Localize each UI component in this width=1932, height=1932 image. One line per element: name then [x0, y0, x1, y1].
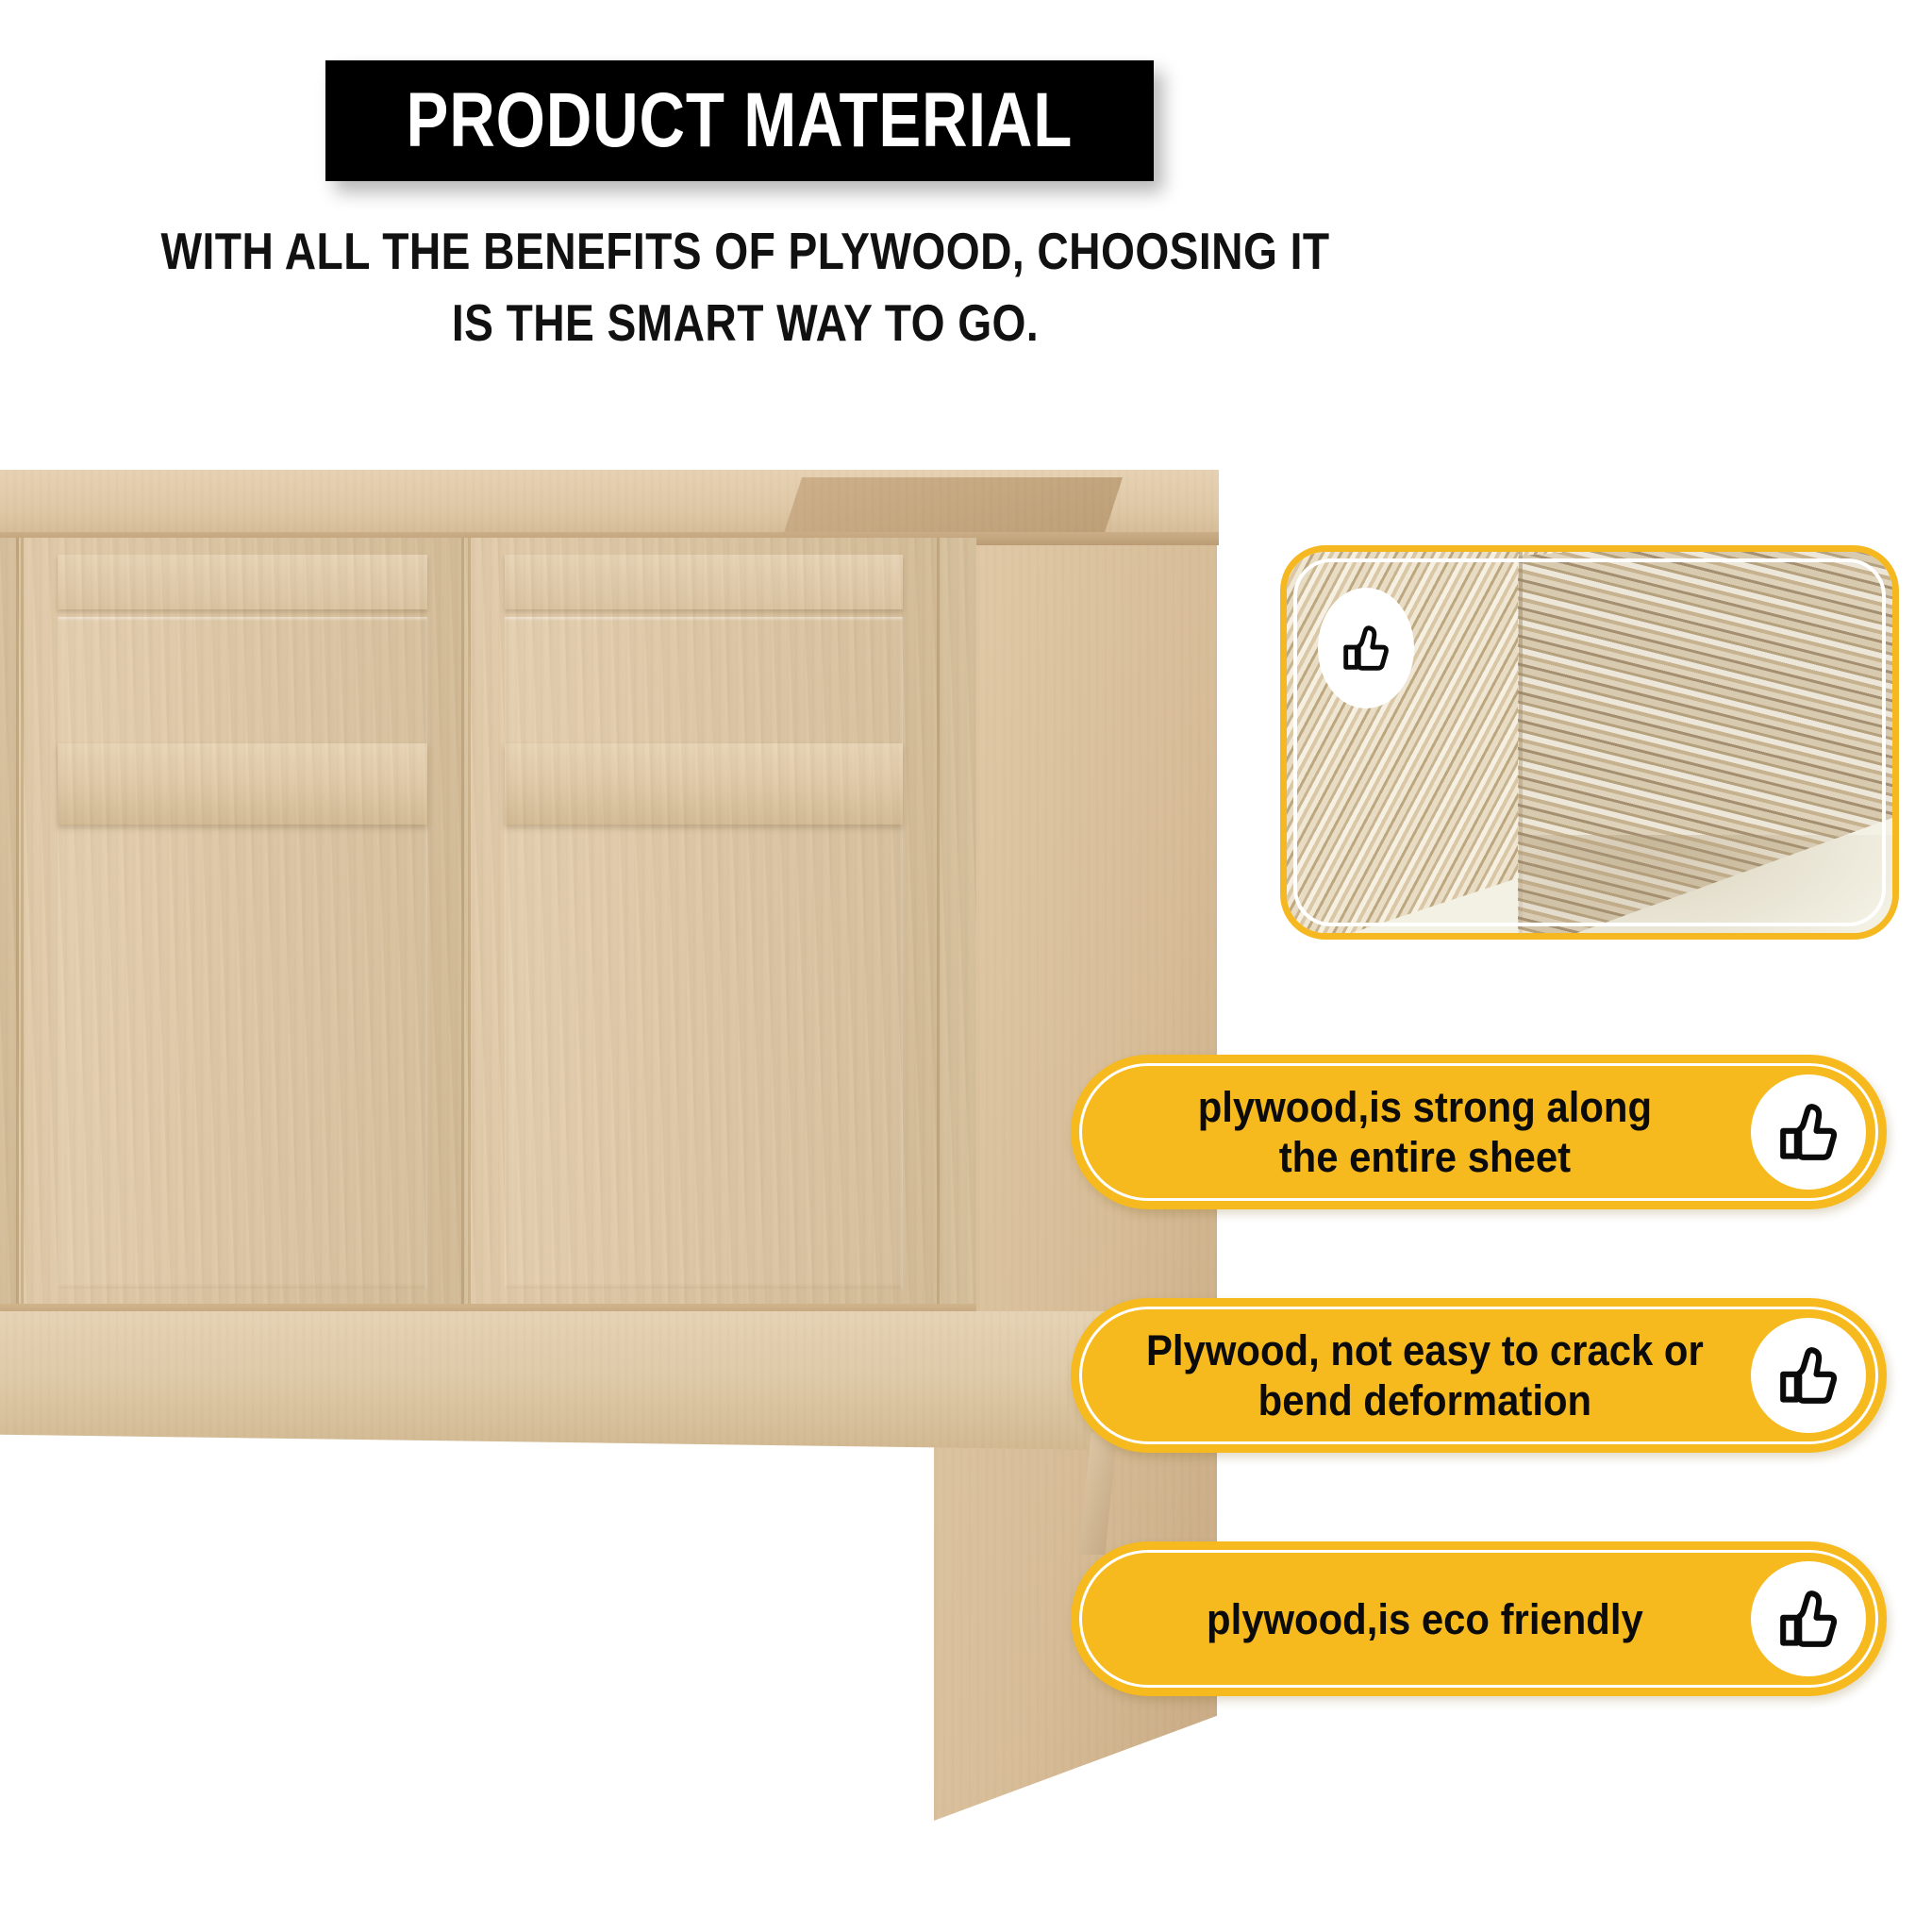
thumbs-up-icon	[1772, 1582, 1845, 1656]
benefit-badge-label: plywood,is strong along the entire sheet	[1094, 1082, 1727, 1182]
cabinet-door-front	[0, 538, 976, 1311]
door-top-stile	[505, 555, 903, 609]
door-top-stile	[58, 555, 427, 609]
thumbs-up-icon	[1772, 1095, 1845, 1169]
cabinet-door-left-partial	[0, 538, 19, 1311]
benefits-list: plywood,is strong along the entire sheet…	[1071, 1055, 1920, 1785]
page-title-banner: PRODUCT MATERIAL	[325, 60, 1154, 181]
benefit-badge-label: plywood,is eco friendly	[1094, 1594, 1727, 1644]
benefit-line-2: the entire sheet	[1133, 1132, 1716, 1182]
door-center-panel	[58, 617, 427, 1289]
benefit-line-1: Plywood, not easy to crack or	[1133, 1325, 1716, 1375]
door-center-panel	[505, 617, 903, 1289]
thumbs-up-badge	[1751, 1318, 1866, 1433]
benefit-line-1: plywood,is eco friendly	[1133, 1594, 1716, 1644]
benefit-badge-crack-resistant[interactable]: Plywood, not easy to crack or bend defor…	[1071, 1298, 1887, 1453]
door-mid-rail	[505, 743, 903, 824]
thumbs-up-badge	[1751, 1561, 1866, 1676]
benefit-line-1: plywood,is strong along	[1133, 1082, 1716, 1132]
thumbs-up-icon	[1337, 619, 1395, 677]
benefit-line-2: bend deformation	[1133, 1375, 1716, 1425]
plywood-drop-shadow	[1523, 835, 1899, 940]
door-mid-rail	[58, 743, 427, 824]
product-photo-cabinet	[0, 470, 1219, 1441]
wood-grain-texture	[0, 1311, 1179, 1451]
cabinet-doors-group	[0, 538, 976, 1311]
page-title: PRODUCT MATERIAL	[407, 82, 1074, 159]
subtitle-line-1: WITH ALL THE BENEFITS OF PLYWOOD, CHOOSI…	[119, 215, 1371, 287]
thumbs-up-badge-panel	[1318, 588, 1414, 708]
benefit-badge-eco-friendly[interactable]: plywood,is eco friendly	[1071, 1541, 1887, 1696]
cabinet-toe-kick	[0, 1311, 1179, 1451]
subtitle-line-2: IS THE SMART WAY TO GO.	[119, 287, 1371, 358]
benefit-badge-strong[interactable]: plywood,is strong along the entire sheet	[1071, 1055, 1887, 1209]
thumbs-up-badge	[1751, 1074, 1866, 1190]
thumbs-up-icon	[1772, 1339, 1845, 1412]
cabinet-door-right	[468, 538, 940, 1311]
material-closeup-panel	[1280, 545, 1899, 940]
benefit-badge-label: Plywood, not easy to crack or bend defor…	[1094, 1325, 1727, 1425]
cabinet-open-carcass	[783, 477, 1123, 536]
cabinet-door-middle	[21, 538, 464, 1311]
subtitle-block: WITH ALL THE BENEFITS OF PLYWOOD, CHOOSI…	[0, 215, 1491, 358]
